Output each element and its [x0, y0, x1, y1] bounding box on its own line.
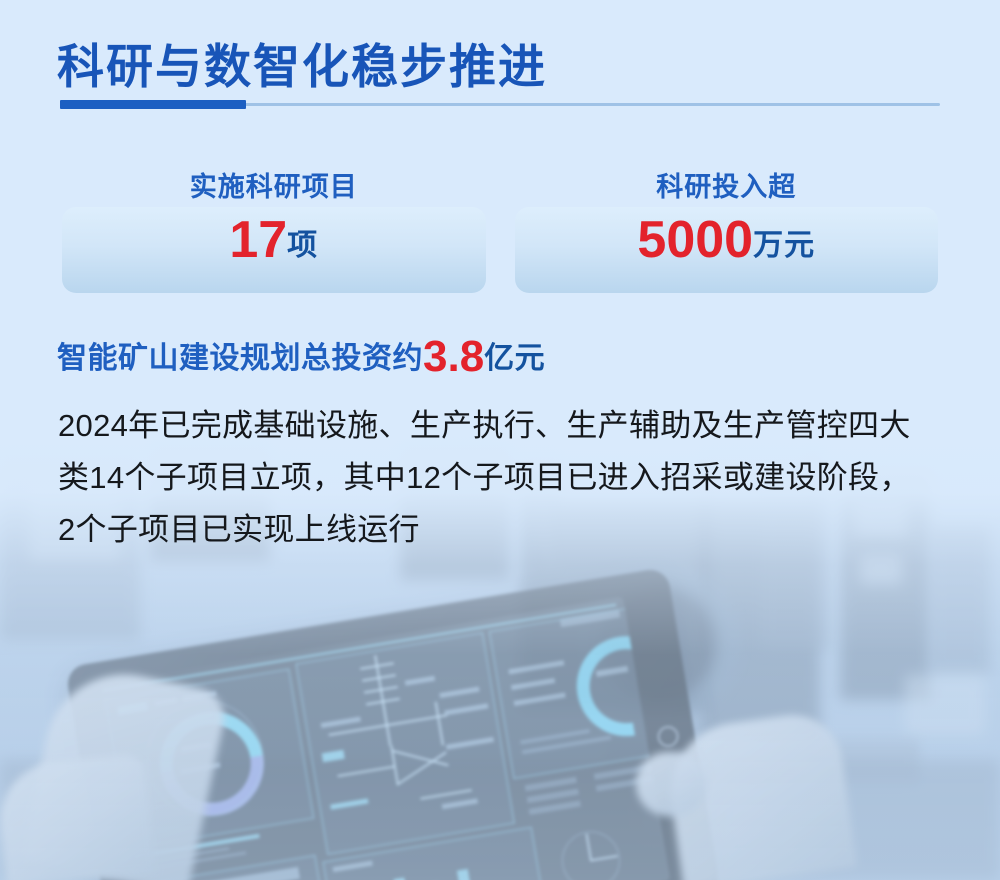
- body-paragraph: 2024年已完成基础设施、生产执行、生产辅助及生产管控四大类14个子项目立项，其…: [58, 400, 913, 556]
- subheading-number: 3.8: [423, 332, 484, 381]
- title-underline: [60, 100, 940, 109]
- page-title: 科研与数智化稳步推进: [57, 28, 547, 97]
- stat-unit: 项: [287, 229, 318, 262]
- stat-number: 5000: [637, 211, 753, 269]
- title-underline-accent: [60, 100, 246, 109]
- subheading-prefix: 智能矿山建设规划总投资约: [57, 342, 423, 375]
- stat-number: 17: [229, 211, 287, 269]
- content-layer: 科研与数智化稳步推进 实施科研项目 17项 科研投入超 5000万元 智能矿山建…: [0, 0, 1000, 880]
- stat-value: 5000万元: [515, 210, 939, 270]
- stat-value: 17项: [62, 210, 486, 270]
- stat-unit: 万元: [753, 229, 815, 262]
- subheading: 智能矿山建设规划总投资约3.8亿元: [57, 332, 545, 382]
- subheading-unit: 亿元: [484, 342, 545, 375]
- stat-card-group: 实施科研项目 17项 科研投入超 5000万元: [62, 207, 938, 293]
- stat-card-research-projects: 实施科研项目 17项: [62, 207, 486, 293]
- stat-label: 科研投入超: [515, 165, 939, 204]
- stat-card-research-investment: 科研投入超 5000万元: [515, 207, 939, 293]
- stat-label: 实施科研项目: [62, 165, 486, 204]
- infographic-page: 科研与数智化稳步推进 实施科研项目 17项 科研投入超 5000万元 智能矿山建…: [0, 0, 1000, 880]
